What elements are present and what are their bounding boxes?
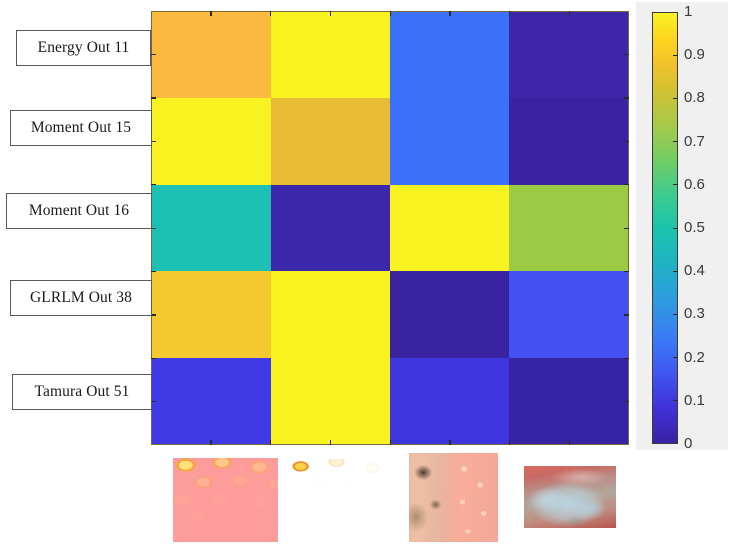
axis-tick bbox=[151, 97, 156, 98]
strawberry-fresh-seeds bbox=[173, 458, 278, 542]
heatmap-cell bbox=[152, 185, 271, 271]
axis-tick bbox=[624, 228, 629, 229]
heatmap-axes bbox=[151, 11, 629, 445]
row-label-text: GLRLM Out 38 bbox=[30, 289, 132, 307]
colorbar-tick-label: 0.7 bbox=[684, 134, 705, 149]
strawberry-rotten-texture bbox=[409, 453, 498, 542]
axis-tick bbox=[449, 11, 450, 16]
heatmap-cell bbox=[152, 358, 271, 444]
row-label-text: Tamura Out 51 bbox=[35, 383, 130, 401]
axis-tick bbox=[509, 440, 510, 445]
colorbar-tick-label: 0.4 bbox=[684, 263, 705, 278]
axis-tick bbox=[151, 184, 156, 185]
axis-tick bbox=[151, 271, 156, 272]
axis-tick bbox=[509, 11, 510, 16]
axis-tick bbox=[151, 54, 156, 55]
heatmap-cell bbox=[152, 12, 271, 98]
sample-image-mouldy bbox=[524, 466, 616, 528]
axis-tick bbox=[390, 11, 391, 16]
colorbar-tick bbox=[673, 228, 678, 229]
heatmap-cell bbox=[390, 98, 509, 184]
axis-tick bbox=[624, 358, 629, 359]
colorbar-tick-label: 0.3 bbox=[684, 306, 705, 321]
heatmap-grid bbox=[152, 12, 628, 444]
axis-tick bbox=[624, 54, 629, 55]
heatmap-cell bbox=[271, 271, 390, 357]
heatmap-cell bbox=[152, 98, 271, 184]
colorbar-tick bbox=[673, 271, 678, 272]
axis-tick bbox=[330, 440, 331, 445]
colorbar-tick bbox=[673, 400, 678, 401]
heatmap-cell bbox=[271, 98, 390, 184]
axis-tick bbox=[569, 11, 570, 16]
colorbar-tick-label: 0.8 bbox=[684, 90, 705, 105]
strawberry-ripe-seeds bbox=[291, 459, 391, 537]
heatmap-cell bbox=[152, 271, 271, 357]
heatmap-cell bbox=[271, 185, 390, 271]
colorbar-tick-label: 0.9 bbox=[684, 47, 705, 62]
heatmap-cell bbox=[390, 12, 509, 98]
heatmap-cell bbox=[390, 185, 509, 271]
colorbar-tick bbox=[673, 98, 678, 99]
colorbar-tick bbox=[673, 357, 678, 358]
colorbar-tick-label: 0.5 bbox=[684, 220, 705, 235]
axis-tick bbox=[449, 440, 450, 445]
row-label-text: Moment Out 16 bbox=[29, 202, 129, 220]
heatmap-cell bbox=[509, 185, 628, 271]
row-label-tamura-out-51: Tamura Out 51 bbox=[12, 374, 152, 410]
row-label-glrlm-out-38: GLRLM Out 38 bbox=[10, 280, 152, 316]
axis-tick bbox=[624, 141, 629, 142]
heatmap-cell bbox=[509, 98, 628, 184]
row-label-text: Moment Out 15 bbox=[31, 119, 131, 137]
row-label-moment-out-16: Moment Out 16 bbox=[6, 193, 152, 229]
colorbar-tick bbox=[673, 141, 678, 142]
axis-tick bbox=[390, 440, 391, 445]
heatmap-cell bbox=[271, 358, 390, 444]
colorbar-tick-label: 0.1 bbox=[684, 393, 705, 408]
axis-tick bbox=[270, 11, 271, 16]
axis-tick bbox=[624, 401, 629, 402]
axis-tick bbox=[569, 440, 570, 445]
colorbar-tick-label: 1 bbox=[684, 4, 692, 19]
heatmap-cell bbox=[509, 358, 628, 444]
colorbar-tick-label: 0.6 bbox=[684, 177, 705, 192]
axis-tick bbox=[210, 440, 211, 445]
axis-tick bbox=[624, 271, 629, 272]
axis-tick bbox=[270, 440, 271, 445]
heatmap-cell bbox=[390, 358, 509, 444]
strawberry-mould-patch bbox=[524, 466, 616, 528]
heatmap-cell bbox=[509, 271, 628, 357]
colorbar-tick bbox=[673, 184, 678, 185]
axis-tick bbox=[624, 184, 629, 185]
colorbar-tick bbox=[673, 55, 678, 56]
colorbar-tick-label: 0 bbox=[684, 436, 692, 451]
colorbar-panel bbox=[636, 2, 728, 450]
axis-tick bbox=[624, 97, 629, 98]
colorbar-tick-label: 0.2 bbox=[684, 350, 705, 365]
sample-image-fresh bbox=[173, 458, 278, 542]
colorbar-tick bbox=[673, 314, 678, 315]
heatmap-cell bbox=[271, 12, 390, 98]
axis-tick bbox=[151, 358, 156, 359]
row-label-text: Energy Out 11 bbox=[38, 39, 130, 57]
sample-image-ripe bbox=[291, 459, 391, 537]
heatmap-cell bbox=[509, 12, 628, 98]
figure-canvas: Energy Out 11 Moment Out 15 Moment Out 1… bbox=[0, 0, 730, 551]
sample-image-rotten bbox=[409, 453, 498, 542]
heatmap-cell bbox=[390, 271, 509, 357]
row-label-energy-out-11: Energy Out 11 bbox=[16, 30, 151, 66]
axis-tick bbox=[210, 11, 211, 16]
axis-tick bbox=[624, 314, 629, 315]
axis-tick bbox=[330, 11, 331, 16]
row-label-moment-out-15: Moment Out 15 bbox=[10, 110, 152, 146]
